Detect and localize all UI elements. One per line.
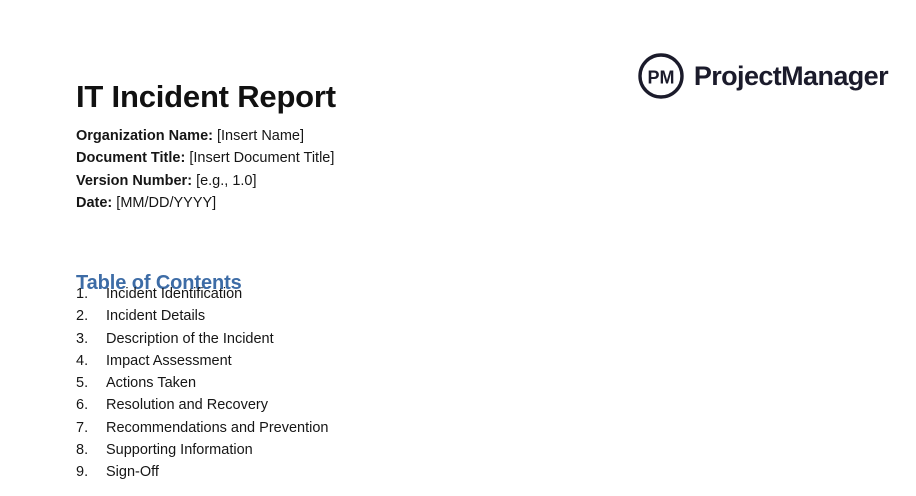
list-item-label: Actions Taken xyxy=(106,372,196,394)
metadata-label: Version Number: xyxy=(76,173,192,189)
list-item[interactable]: 6. Resolution and Recovery xyxy=(76,394,328,416)
list-item[interactable]: 7. Recommendations and Prevention xyxy=(76,417,328,439)
metadata-label: Date: xyxy=(76,195,112,211)
list-item-number: 9. xyxy=(76,461,106,483)
metadata-label: Organization Name: xyxy=(76,128,213,144)
list-item[interactable]: 8. Supporting Information xyxy=(76,439,328,461)
metadata-row-version-number: Version Number: [e.g., 1.0] xyxy=(76,170,334,192)
list-item-number: 8. xyxy=(76,439,106,461)
list-item[interactable]: 2. Incident Details xyxy=(76,305,328,327)
metadata-row-document-title: Document Title: [Insert Document Title] xyxy=(76,147,334,169)
list-item-number: 2. xyxy=(76,305,106,327)
list-item-label: Recommendations and Prevention xyxy=(106,417,328,439)
page-title: IT Incident Report xyxy=(76,79,336,115)
list-item-label: Resolution and Recovery xyxy=(106,394,268,416)
brand-monogram: PM xyxy=(647,68,674,88)
list-item-label: Incident Identification xyxy=(106,283,242,305)
list-item[interactable]: 9. Sign-Off xyxy=(76,461,328,483)
brand-wordmark: ProjectManager xyxy=(694,61,888,91)
list-item-label: Description of the Incident xyxy=(106,328,274,350)
metadata-value: [MM/DD/YYYY] xyxy=(116,195,216,211)
list-item-number: 6. xyxy=(76,394,106,416)
list-item-label: Sign-Off xyxy=(106,461,159,483)
list-item-number: 3. xyxy=(76,328,106,350)
metadata-label: Document Title: xyxy=(76,150,185,166)
document-page: IT Incident Report PM ProjectManager Org… xyxy=(0,0,916,496)
list-item[interactable]: 3. Description of the Incident xyxy=(76,328,328,350)
project-manager-circle-icon: PM xyxy=(637,52,685,100)
metadata-value: [e.g., 1.0] xyxy=(196,173,256,189)
document-metadata: Organization Name: [Insert Name] Documen… xyxy=(76,125,334,214)
list-item-number: 5. xyxy=(76,372,106,394)
list-item-label: Incident Details xyxy=(106,305,205,327)
list-item[interactable]: 1. Incident Identification xyxy=(76,283,328,305)
metadata-row-date: Date: [MM/DD/YYYY] xyxy=(76,192,334,214)
list-item[interactable]: 5. Actions Taken xyxy=(76,372,328,394)
list-item[interactable]: 4. Impact Assessment xyxy=(76,350,328,372)
list-item-number: 7. xyxy=(76,417,106,439)
list-item-label: Supporting Information xyxy=(106,439,253,461)
metadata-row-organization-name: Organization Name: [Insert Name] xyxy=(76,125,334,147)
metadata-value: [Insert Document Title] xyxy=(189,150,334,166)
metadata-value: [Insert Name] xyxy=(217,128,304,144)
list-item-number: 4. xyxy=(76,350,106,372)
brand-logo: PM ProjectManager xyxy=(637,52,888,100)
list-item-label: Impact Assessment xyxy=(106,350,232,372)
list-item-number: 1. xyxy=(76,283,106,305)
table-of-contents-list: 1. Incident Identification 2. Incident D… xyxy=(76,283,328,484)
